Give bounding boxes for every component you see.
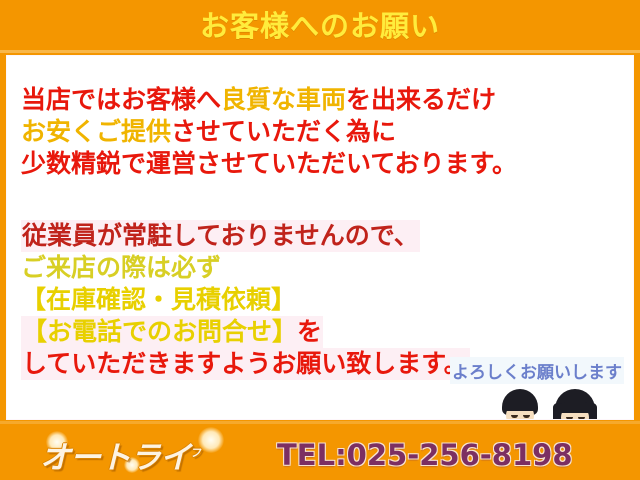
- bowing-people-illustration: [494, 389, 604, 420]
- banner-header: お客様へのお願い: [0, 0, 640, 53]
- notice-line-2-text: ご来店の際は必ず: [21, 253, 221, 282]
- page-title: お客様へのお願い: [200, 12, 440, 41]
- notice-line-1-text: 従業員が常駐しておりませんので、: [22, 221, 419, 250]
- message-line-3: 少数精鋭で運営させていただいております。: [21, 148, 517, 180]
- notice-line-3-text: 【在庫確認・見積依頼】: [21, 285, 296, 314]
- company-logo-text: オートライ: [40, 440, 190, 476]
- bowing-businesswoman-icon: [549, 389, 601, 420]
- greeting-text: よろしくお願いします: [450, 357, 624, 384]
- message-line-1-part-2: 良質な車両: [221, 85, 346, 114]
- message-block-primary: 当店ではお客様へ良質な車両を出来るだけ お安くご提供させていただく為に 少数精鋭…: [21, 84, 517, 180]
- message-line-2-part-2: させていただく為に: [171, 117, 396, 146]
- company-logo-mark: フ: [190, 447, 201, 460]
- notice-line-4-part-2: を: [297, 317, 322, 346]
- notice-line-5-text: していただきますようお願い致します。: [22, 349, 469, 378]
- phone-number: TEL:025-256-8198: [277, 438, 573, 472]
- sparkle-icon: [198, 427, 224, 453]
- notice-line-1: 従業員が常駐しておりませんので、: [21, 220, 420, 252]
- message-line-1: 当店ではお客様へ良質な車両を出来るだけ: [21, 84, 517, 116]
- message-block-secondary: 従業員が常駐しておりませんので、 ご来店の際は必ず 【在庫確認・見積依頼】 【お…: [21, 220, 633, 380]
- notice-line-3: 【在庫確認・見積依頼】: [21, 284, 633, 316]
- footer-divider: [0, 421, 640, 424]
- notice-line-4-part-1: 【お電話でのお問合せ】: [22, 317, 297, 346]
- message-line-2-part-1: お安くご提供: [21, 117, 171, 146]
- banner-footer: オートライフ TEL:025-256-8198: [0, 421, 640, 480]
- fringe-shape: [504, 399, 536, 411]
- notice-line-4: 【お電話でのお問合せ】を: [21, 316, 323, 348]
- bowing-businessman-icon: [494, 389, 546, 420]
- header-divider: [0, 50, 640, 53]
- fringe-shape: [557, 402, 593, 413]
- message-line-3-part-1: 少数精鋭で運営させていただいております。: [21, 149, 517, 178]
- message-line-1-part-1: 当店ではお客様へ: [21, 85, 221, 114]
- message-line-1-part-3: を出来るだけ: [346, 85, 496, 114]
- notice-line-5: していただきますようお願い致します。: [21, 348, 470, 380]
- company-logo: オートライフ: [40, 432, 201, 477]
- notice-line-2: ご来店の際は必ず: [21, 252, 633, 284]
- eye-right: [578, 417, 585, 420]
- message-panel: 当店ではお客様へ良質な車両を出来るだけ お安くご提供させていただく為に 少数精鋭…: [6, 55, 634, 420]
- message-line-2: お安くご提供させていただく為に: [21, 116, 517, 148]
- eye-left: [566, 417, 573, 420]
- promo-banner: お客様へのお願い 当店ではお客様へ良質な車両を出来るだけ お安くご提供させていた…: [0, 0, 640, 480]
